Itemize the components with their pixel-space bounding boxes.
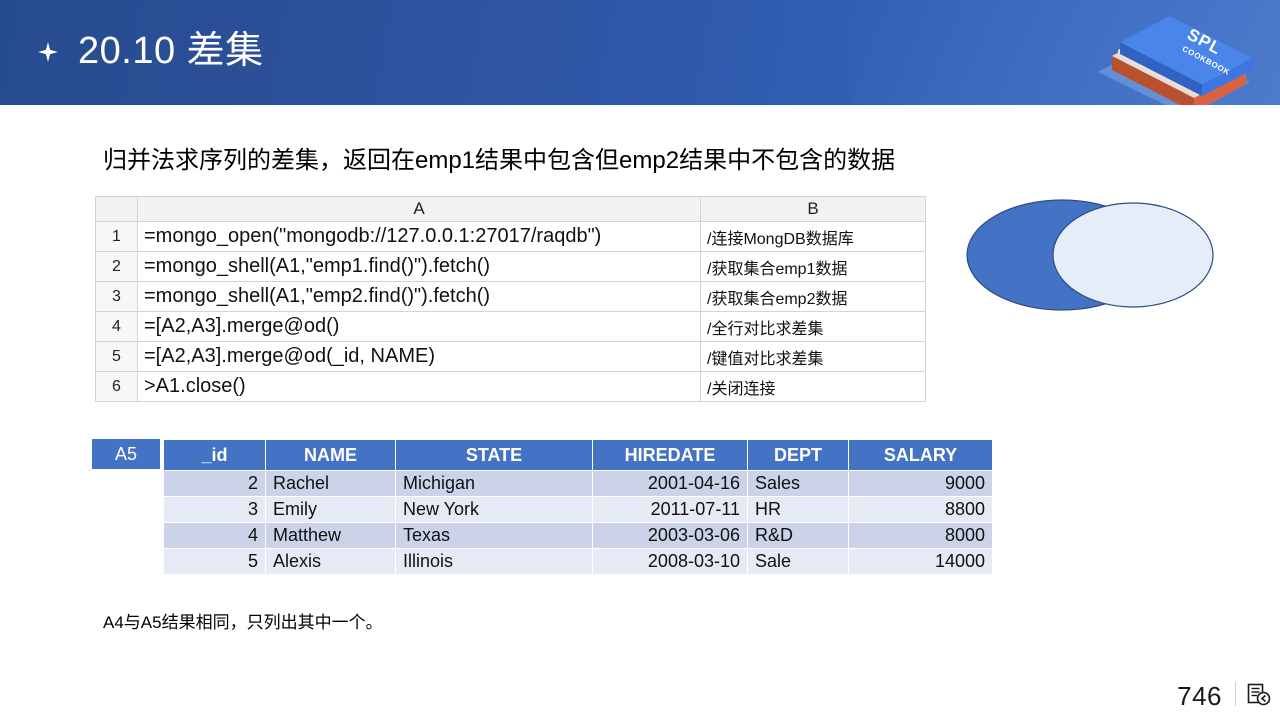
code-cell-b: /全行对比求差集 xyxy=(701,312,926,342)
cell-state: Michigan xyxy=(396,471,593,497)
table-row: 5 Alexis Illinois 2008-03-10 Sale 14000 xyxy=(164,549,993,575)
cell-dept: Sale xyxy=(748,549,849,575)
code-row-index: 3 xyxy=(96,282,138,312)
cell-salary: 8000 xyxy=(849,523,993,549)
cell-state: New York xyxy=(396,497,593,523)
code-table-header-row: A B xyxy=(96,197,926,222)
footer-divider xyxy=(1235,682,1236,706)
cell-hiredate: 2003-03-06 xyxy=(593,523,748,549)
cell-name: Alexis xyxy=(266,549,396,575)
code-cell-a: >A1.close() xyxy=(138,372,701,402)
venn-diagram-difference xyxy=(950,190,1240,320)
code-cell-a: =mongo_shell(A1,"emp1.find()").fetch() xyxy=(138,252,701,282)
cell-hiredate: 2011-07-11 xyxy=(593,497,748,523)
result-col-header-hiredate: HIREDATE xyxy=(593,440,748,471)
cell-id: 5 xyxy=(164,549,266,575)
spl-cookbook-logo: SPL COOKBOOK xyxy=(1090,0,1270,105)
cell-dept: Sales xyxy=(748,471,849,497)
result-col-header-salary: SALARY xyxy=(849,440,993,471)
cell-hiredate: 2008-03-10 xyxy=(593,549,748,575)
code-cell-b: /获取集合emp1数据 xyxy=(701,252,926,282)
footnote: A4与A5结果相同，只列出其中一个。 xyxy=(103,610,383,636)
code-cell-a: =mongo_open("mongodb://127.0.0.1:27017/r… xyxy=(138,222,701,252)
cell-salary: 9000 xyxy=(849,471,993,497)
table-row: 3 Emily New York 2011-07-11 HR 8800 xyxy=(164,497,993,523)
result-col-header-dept: DEPT xyxy=(748,440,849,471)
code-cell-b: /关闭连接 xyxy=(701,372,926,402)
table-row: 4 Matthew Texas 2003-03-06 R&D 8000 xyxy=(164,523,993,549)
table-row: 1 =mongo_open("mongodb://127.0.0.1:27017… xyxy=(96,222,926,252)
code-col-header-blank xyxy=(96,197,138,222)
slide: 20.10 差集 SPL COOKBOOK 归并法求序列的差集，返回在emp1结… xyxy=(0,0,1280,720)
result-col-header-state: STATE xyxy=(396,440,593,471)
code-row-index: 6 xyxy=(96,372,138,402)
code-col-header-b: B xyxy=(701,197,926,222)
code-cell-a: =[A2,A3].merge@od() xyxy=(138,312,701,342)
cell-state: Texas xyxy=(396,523,593,549)
code-col-header-a: A xyxy=(138,197,701,222)
page-title: 20.10 差集 xyxy=(78,22,264,80)
code-row-index: 5 xyxy=(96,342,138,372)
code-cell-a: =mongo_shell(A1,"emp2.find()").fetch() xyxy=(138,282,701,312)
result-col-header-name: NAME xyxy=(266,440,396,471)
cell-id: 3 xyxy=(164,497,266,523)
cell-id: 2 xyxy=(164,471,266,497)
result-table-block: A5 _id NAME STATE HIREDATE DEPT SALARY 2 xyxy=(92,439,992,574)
cell-name: Emily xyxy=(266,497,396,523)
cell-id: 4 xyxy=(164,523,266,549)
cell-state: Illinois xyxy=(396,549,593,575)
spl-code-table: A B 1 =mongo_open("mongodb://127.0.0.1:2… xyxy=(95,196,926,402)
table-row: 3 =mongo_shell(A1,"emp2.find()").fetch()… xyxy=(96,282,926,312)
result-col-header-id: _id xyxy=(164,440,266,471)
slide-header: 20.10 差集 SPL COOKBOOK xyxy=(0,0,1280,105)
page-number: 746 xyxy=(1177,681,1222,712)
code-cell-b: /连接MongDB数据库 xyxy=(701,222,926,252)
code-row-index: 1 xyxy=(96,222,138,252)
cell-salary: 14000 xyxy=(849,549,993,575)
code-cell-b: /获取集合emp2数据 xyxy=(701,282,926,312)
cell-dept: R&D xyxy=(748,523,849,549)
result-cell-ref-badge: A5 xyxy=(92,439,160,469)
code-cell-a: =[A2,A3].merge@od(_id, NAME) xyxy=(138,342,701,372)
table-row: 4 =[A2,A3].merge@od() /全行对比求差集 xyxy=(96,312,926,342)
cell-salary: 8800 xyxy=(849,497,993,523)
result-table: _id NAME STATE HIREDATE DEPT SALARY 2 Ra… xyxy=(163,439,993,575)
document-back-icon[interactable] xyxy=(1246,682,1272,708)
venn-right-circle xyxy=(1053,203,1213,307)
table-row: 6 >A1.close() /关闭连接 xyxy=(96,372,926,402)
result-header-row: _id NAME STATE HIREDATE DEPT SALARY xyxy=(164,440,993,471)
code-row-index: 4 xyxy=(96,312,138,342)
table-row: 5 =[A2,A3].merge@od(_id, NAME) /键值对比求差集 xyxy=(96,342,926,372)
table-row: 2 =mongo_shell(A1,"emp1.find()").fetch()… xyxy=(96,252,926,282)
subtitle: 归并法求序列的差集，返回在emp1结果中包含但emp2结果中不包含的数据 xyxy=(103,144,895,178)
cell-name: Matthew xyxy=(266,523,396,549)
cell-dept: HR xyxy=(748,497,849,523)
code-cell-b: /键值对比求差集 xyxy=(701,342,926,372)
table-row: 2 Rachel Michigan 2001-04-16 Sales 9000 xyxy=(164,471,993,497)
four-point-star-icon xyxy=(38,42,58,62)
cell-name: Rachel xyxy=(266,471,396,497)
cell-hiredate: 2001-04-16 xyxy=(593,471,748,497)
code-row-index: 2 xyxy=(96,252,138,282)
